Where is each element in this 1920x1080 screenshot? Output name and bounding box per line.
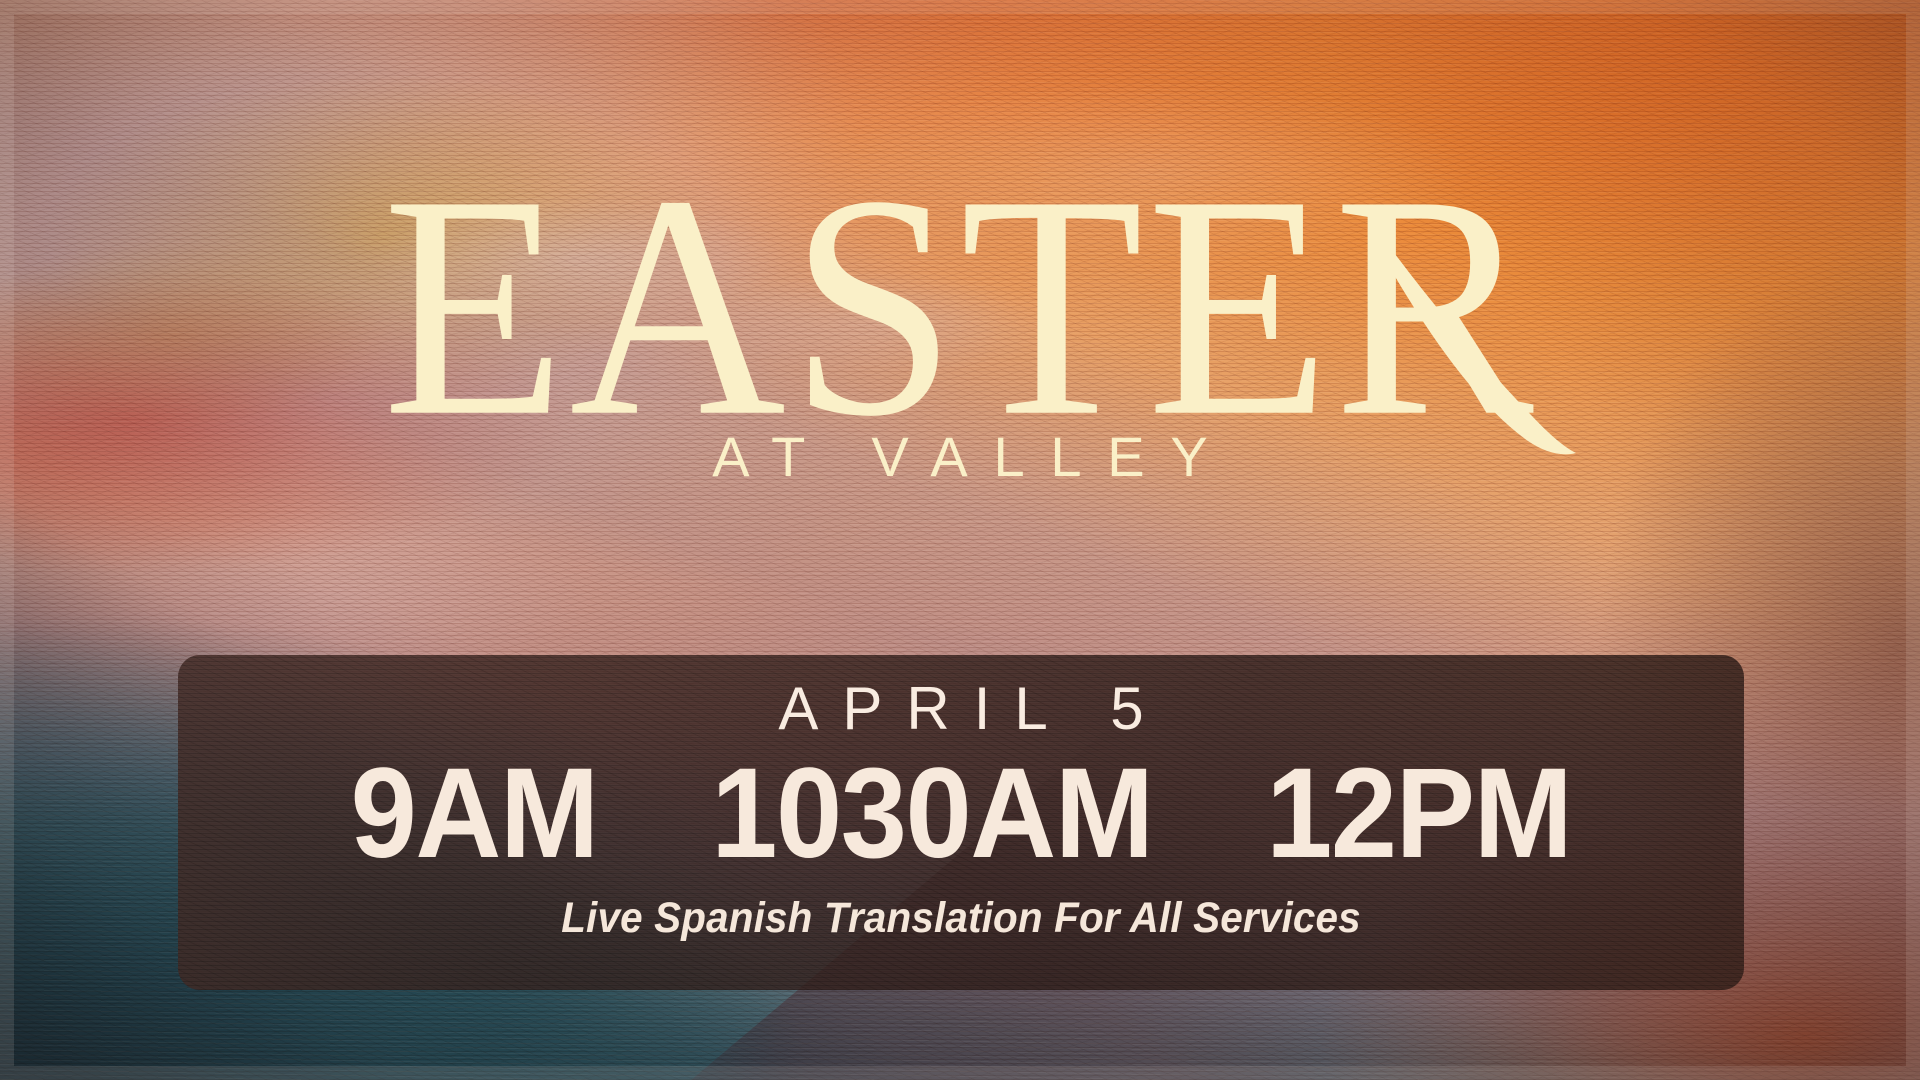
service-time-1: 9AM <box>351 742 598 885</box>
translation-tagline: Live Spanish Translation For All Service… <box>225 894 1697 943</box>
service-time-2: 1030AM <box>711 742 1152 885</box>
service-date: APRIL 5 <box>178 679 1744 739</box>
easter-service-poster: EASTER AT VALLEY APRIL 5 9AM 1030AM 12PM… <box>0 0 1920 1080</box>
service-time-3: 12PM <box>1266 742 1571 885</box>
panel-content: APRIL 5 9AM 1030AM 12PM Live Spanish Tra… <box>178 655 1744 943</box>
service-info-panel: APRIL 5 9AM 1030AM 12PM Live Spanish Tra… <box>178 655 1744 990</box>
service-times-row: 9AM 1030AM 12PM <box>233 747 1689 880</box>
